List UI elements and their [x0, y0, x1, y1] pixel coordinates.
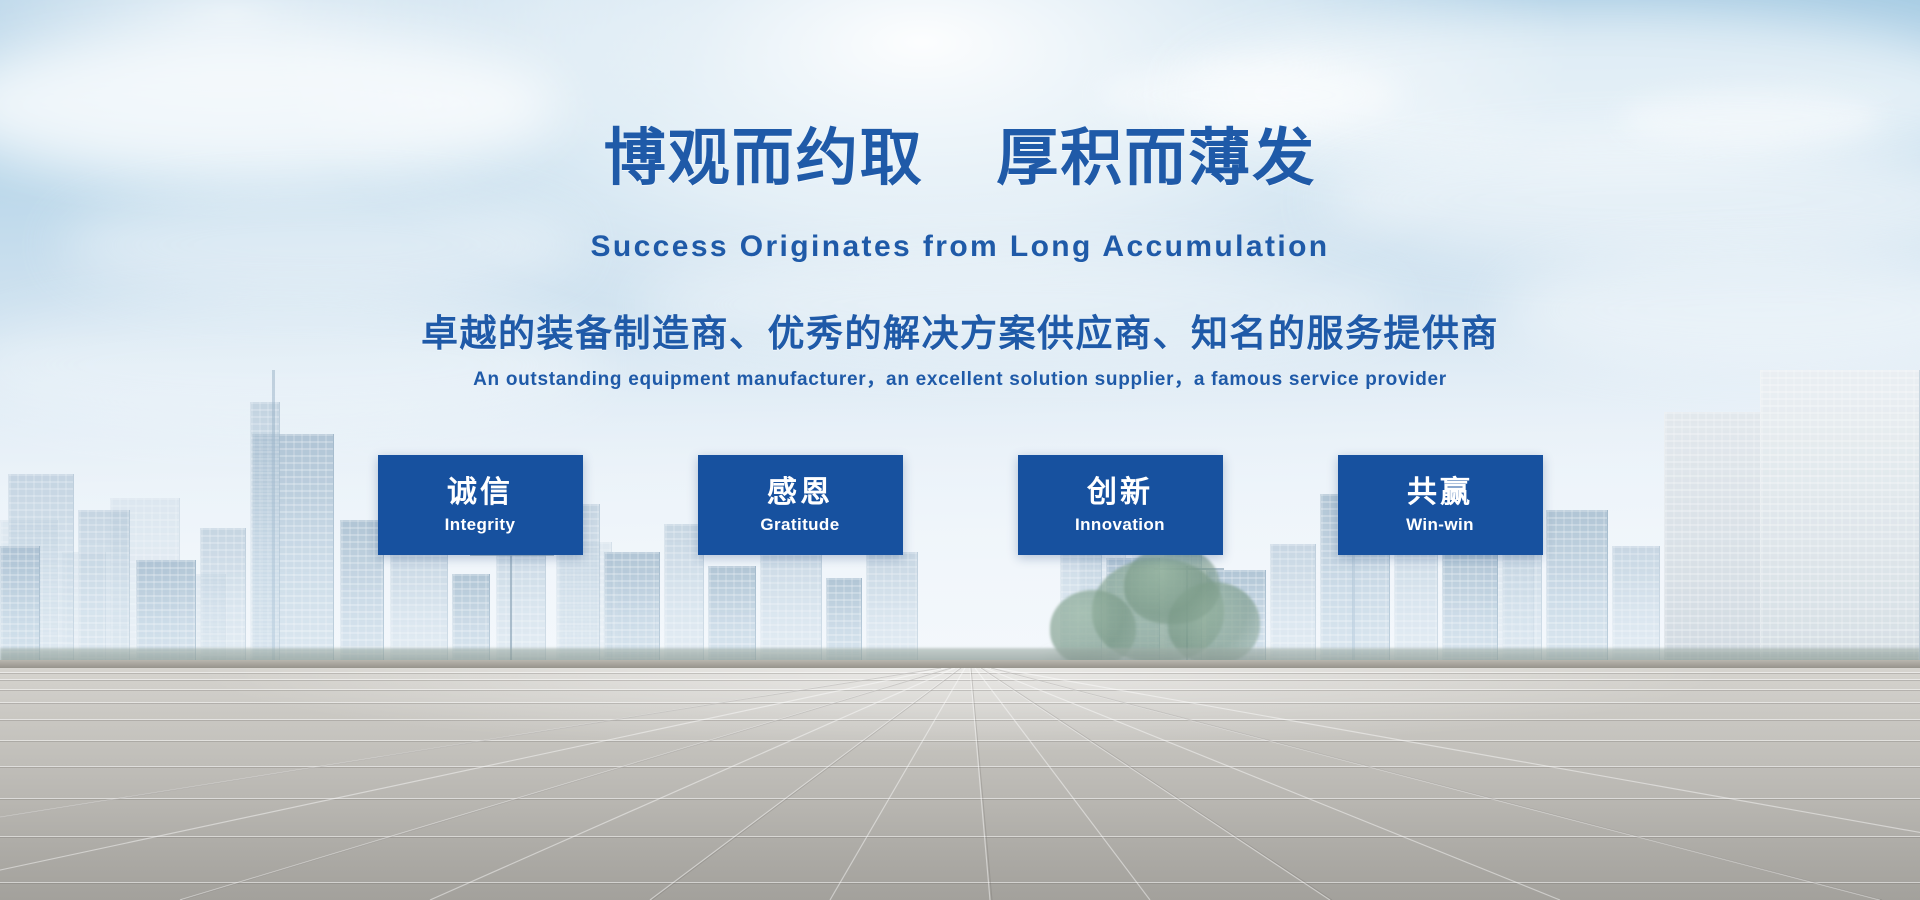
value-card-label-cn: 诚信: [447, 477, 513, 509]
value-card-innovation[interactable]: 创新 Innovation: [1018, 455, 1223, 555]
value-card-label-cn: 共赢: [1407, 477, 1473, 509]
subheadline-chinese: 卓越的装备制造商、优秀的解决方案供应商、知名的服务提供商: [0, 315, 1920, 352]
core-values-card-group: 诚信 Integrity 感恩 Gratitude 创新 Innovation …: [0, 455, 1920, 555]
value-card-label-en: Win-win: [1406, 516, 1474, 533]
value-card-label-en: Gratitude: [760, 516, 839, 533]
value-card-winwin[interactable]: 共赢 Win-win: [1338, 455, 1543, 555]
value-card-gratitude[interactable]: 感恩 Gratitude: [698, 455, 903, 555]
headline-cn-part1: 博观而约取: [604, 124, 924, 193]
value-card-integrity[interactable]: 诚信 Integrity: [378, 455, 583, 555]
value-card-label-cn: 感恩: [767, 477, 833, 509]
corporate-hero-banner: 博观而约取 厚积而薄发 Success Originates from Long…: [0, 0, 1920, 900]
headline-english-tagline: Success Originates from Long Accumulatio…: [0, 232, 1920, 262]
value-card-label-en: Integrity: [445, 516, 516, 533]
value-card-label-cn: 创新: [1087, 477, 1153, 509]
subheadline-english: An outstanding equipment manufacturer，an…: [0, 370, 1920, 389]
value-card-label-en: Innovation: [1075, 516, 1165, 533]
page-title: 博观而约取 厚积而薄发: [0, 128, 1920, 190]
headline-cn-part2: 厚积而薄发: [996, 124, 1316, 193]
